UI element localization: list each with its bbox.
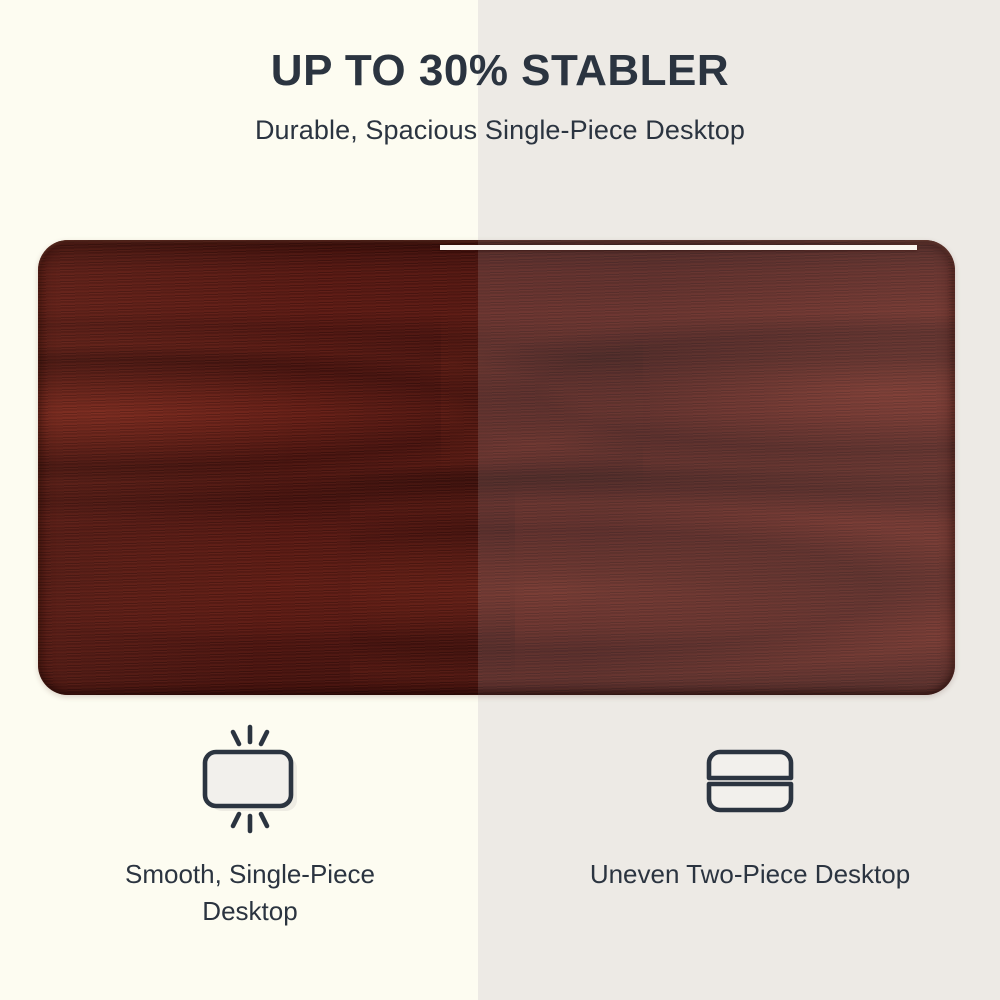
comparison-column-right: Uneven Two-Piece Desktop bbox=[500, 718, 1000, 958]
infographic-canvas: UP TO 30% STABLER Durable, Spacious Sing… bbox=[0, 0, 1000, 1000]
single-piece-desktop-icon bbox=[175, 718, 325, 838]
comparison-row: Smooth, Single-Piece Desktop Uneven Two-… bbox=[0, 718, 1000, 958]
comparison-column-left: Smooth, Single-Piece Desktop bbox=[0, 718, 500, 958]
page-subtitle: Durable, Spacious Single-Piece Desktop bbox=[0, 115, 1000, 146]
two-piece-desktop-icon bbox=[675, 718, 825, 838]
desktop-board-image bbox=[38, 240, 955, 695]
page-title: UP TO 30% STABLER bbox=[0, 48, 1000, 94]
comparison-caption-right: Uneven Two-Piece Desktop bbox=[590, 856, 910, 893]
comparison-caption-left: Smooth, Single-Piece Desktop bbox=[80, 856, 420, 930]
board-edge-shading bbox=[38, 240, 955, 695]
header: UP TO 30% STABLER Durable, Spacious Sing… bbox=[0, 0, 1000, 146]
two-piece-seam-line bbox=[440, 245, 917, 250]
